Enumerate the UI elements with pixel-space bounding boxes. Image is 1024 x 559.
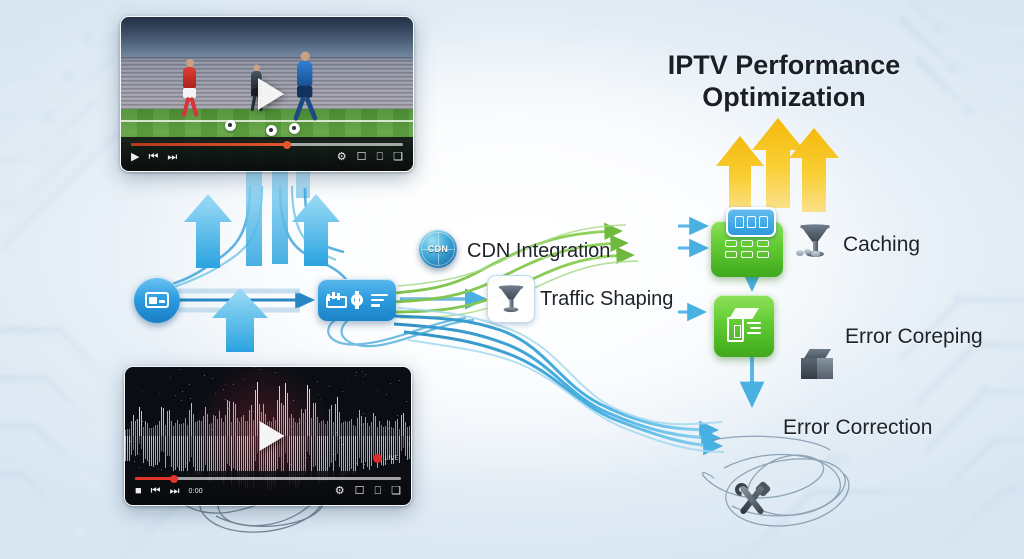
pip-icon[interactable]: ☐ [355, 486, 365, 497]
seek-knob[interactable] [283, 141, 291, 149]
soccer-ball [289, 123, 300, 134]
diagram-canvas: ▶ ⏮ ⏭ ⚙ ☐ ⎕ ❏ LIVE ■ ⏮ [0, 0, 1024, 559]
memory-cell [735, 216, 744, 228]
memory-cell [747, 216, 756, 228]
traffic-shaping-node[interactable] [487, 275, 535, 323]
funnel-icon [499, 286, 524, 312]
fullscreen-icon[interactable]: ❏ [391, 486, 401, 497]
grid-icon [725, 240, 769, 258]
audio-seek-bar[interactable] [135, 477, 401, 480]
box-icon [725, 308, 763, 344]
router-icon [326, 292, 343, 308]
next-icon[interactable]: ⏭ [170, 486, 180, 497]
memory-cell [759, 216, 768, 228]
rewind-icon[interactable]: ⏮ [151, 486, 161, 497]
seek-fill [135, 477, 172, 480]
cube-icon [800, 348, 834, 382]
video-seek-bar[interactable] [131, 143, 403, 146]
pip-icon[interactable]: ☐ [357, 152, 367, 163]
soccer-ball [266, 125, 277, 136]
play-icon[interactable]: ■ [135, 486, 142, 497]
title-line-2: Optimization [628, 82, 940, 114]
seek-knob[interactable] [170, 475, 178, 483]
stadium-roof [121, 17, 413, 59]
live-label: LIVE [385, 456, 399, 462]
caching-label: Caching [843, 233, 920, 257]
play-triangle-icon[interactable] [260, 421, 285, 451]
audio-timestamp: 0:00 [188, 488, 202, 495]
play-triangle-icon[interactable] [258, 78, 284, 110]
settings-icon[interactable]: ⚙ [337, 152, 347, 163]
error-correction-label: Error Correction [783, 416, 932, 440]
live-badge: LIVE [373, 454, 399, 463]
storage-chip[interactable] [726, 207, 776, 237]
video-control-bar[interactable]: ▶ ⏮ ⏭ ⚙ ☐ ⎕ ❏ [121, 137, 413, 171]
fullscreen-icon[interactable]: ❏ [393, 152, 403, 163]
soccer-ball [225, 120, 236, 131]
title-line-1: IPTV Performance [628, 50, 940, 82]
cdn-globe-icon[interactable]: CDN [419, 230, 457, 268]
previous-icon[interactable]: ⏮ [148, 152, 158, 163]
error-coreping-label: Error Coreping [845, 325, 983, 349]
processing-hub-node[interactable] [318, 279, 396, 321]
audio-waveform-player[interactable]: LIVE ■ ⏮ ⏭ 0:00 ⚙ ☐ ⎕ ❏ [124, 366, 412, 506]
play-icon[interactable]: ▶ [131, 152, 139, 163]
package-block[interactable] [714, 295, 774, 357]
media-source-node[interactable] [134, 277, 180, 323]
cdn-badge: CDN [428, 244, 448, 254]
seek-fill [131, 143, 286, 146]
theater-icon[interactable]: ⎕ [377, 152, 384, 163]
server-card-icon [145, 292, 169, 308]
page-title: IPTV Performance Optimization [628, 50, 940, 114]
settings-icon[interactable]: ⚙ [335, 486, 345, 497]
next-icon[interactable]: ⏭ [167, 152, 177, 163]
gear-icon [349, 292, 365, 308]
caching-funnel-icon [800, 225, 830, 257]
audio-control-bar[interactable]: ■ ⏮ ⏭ 0:00 ⚙ ☐ ⎕ ❏ [125, 471, 411, 505]
drops-icon [796, 249, 822, 257]
traffic-shaping-label: Traffic Shaping [540, 288, 673, 311]
list-icon [371, 294, 388, 307]
cdn-integration-label: CDN Integration [467, 240, 610, 263]
scribble-right [703, 436, 849, 526]
wrench-icon [733, 482, 771, 518]
soccer-video-player[interactable]: ▶ ⏮ ⏭ ⚙ ☐ ⎕ ❏ [120, 16, 414, 172]
live-dot [373, 454, 382, 463]
theater-icon[interactable]: ⎕ [375, 486, 382, 497]
